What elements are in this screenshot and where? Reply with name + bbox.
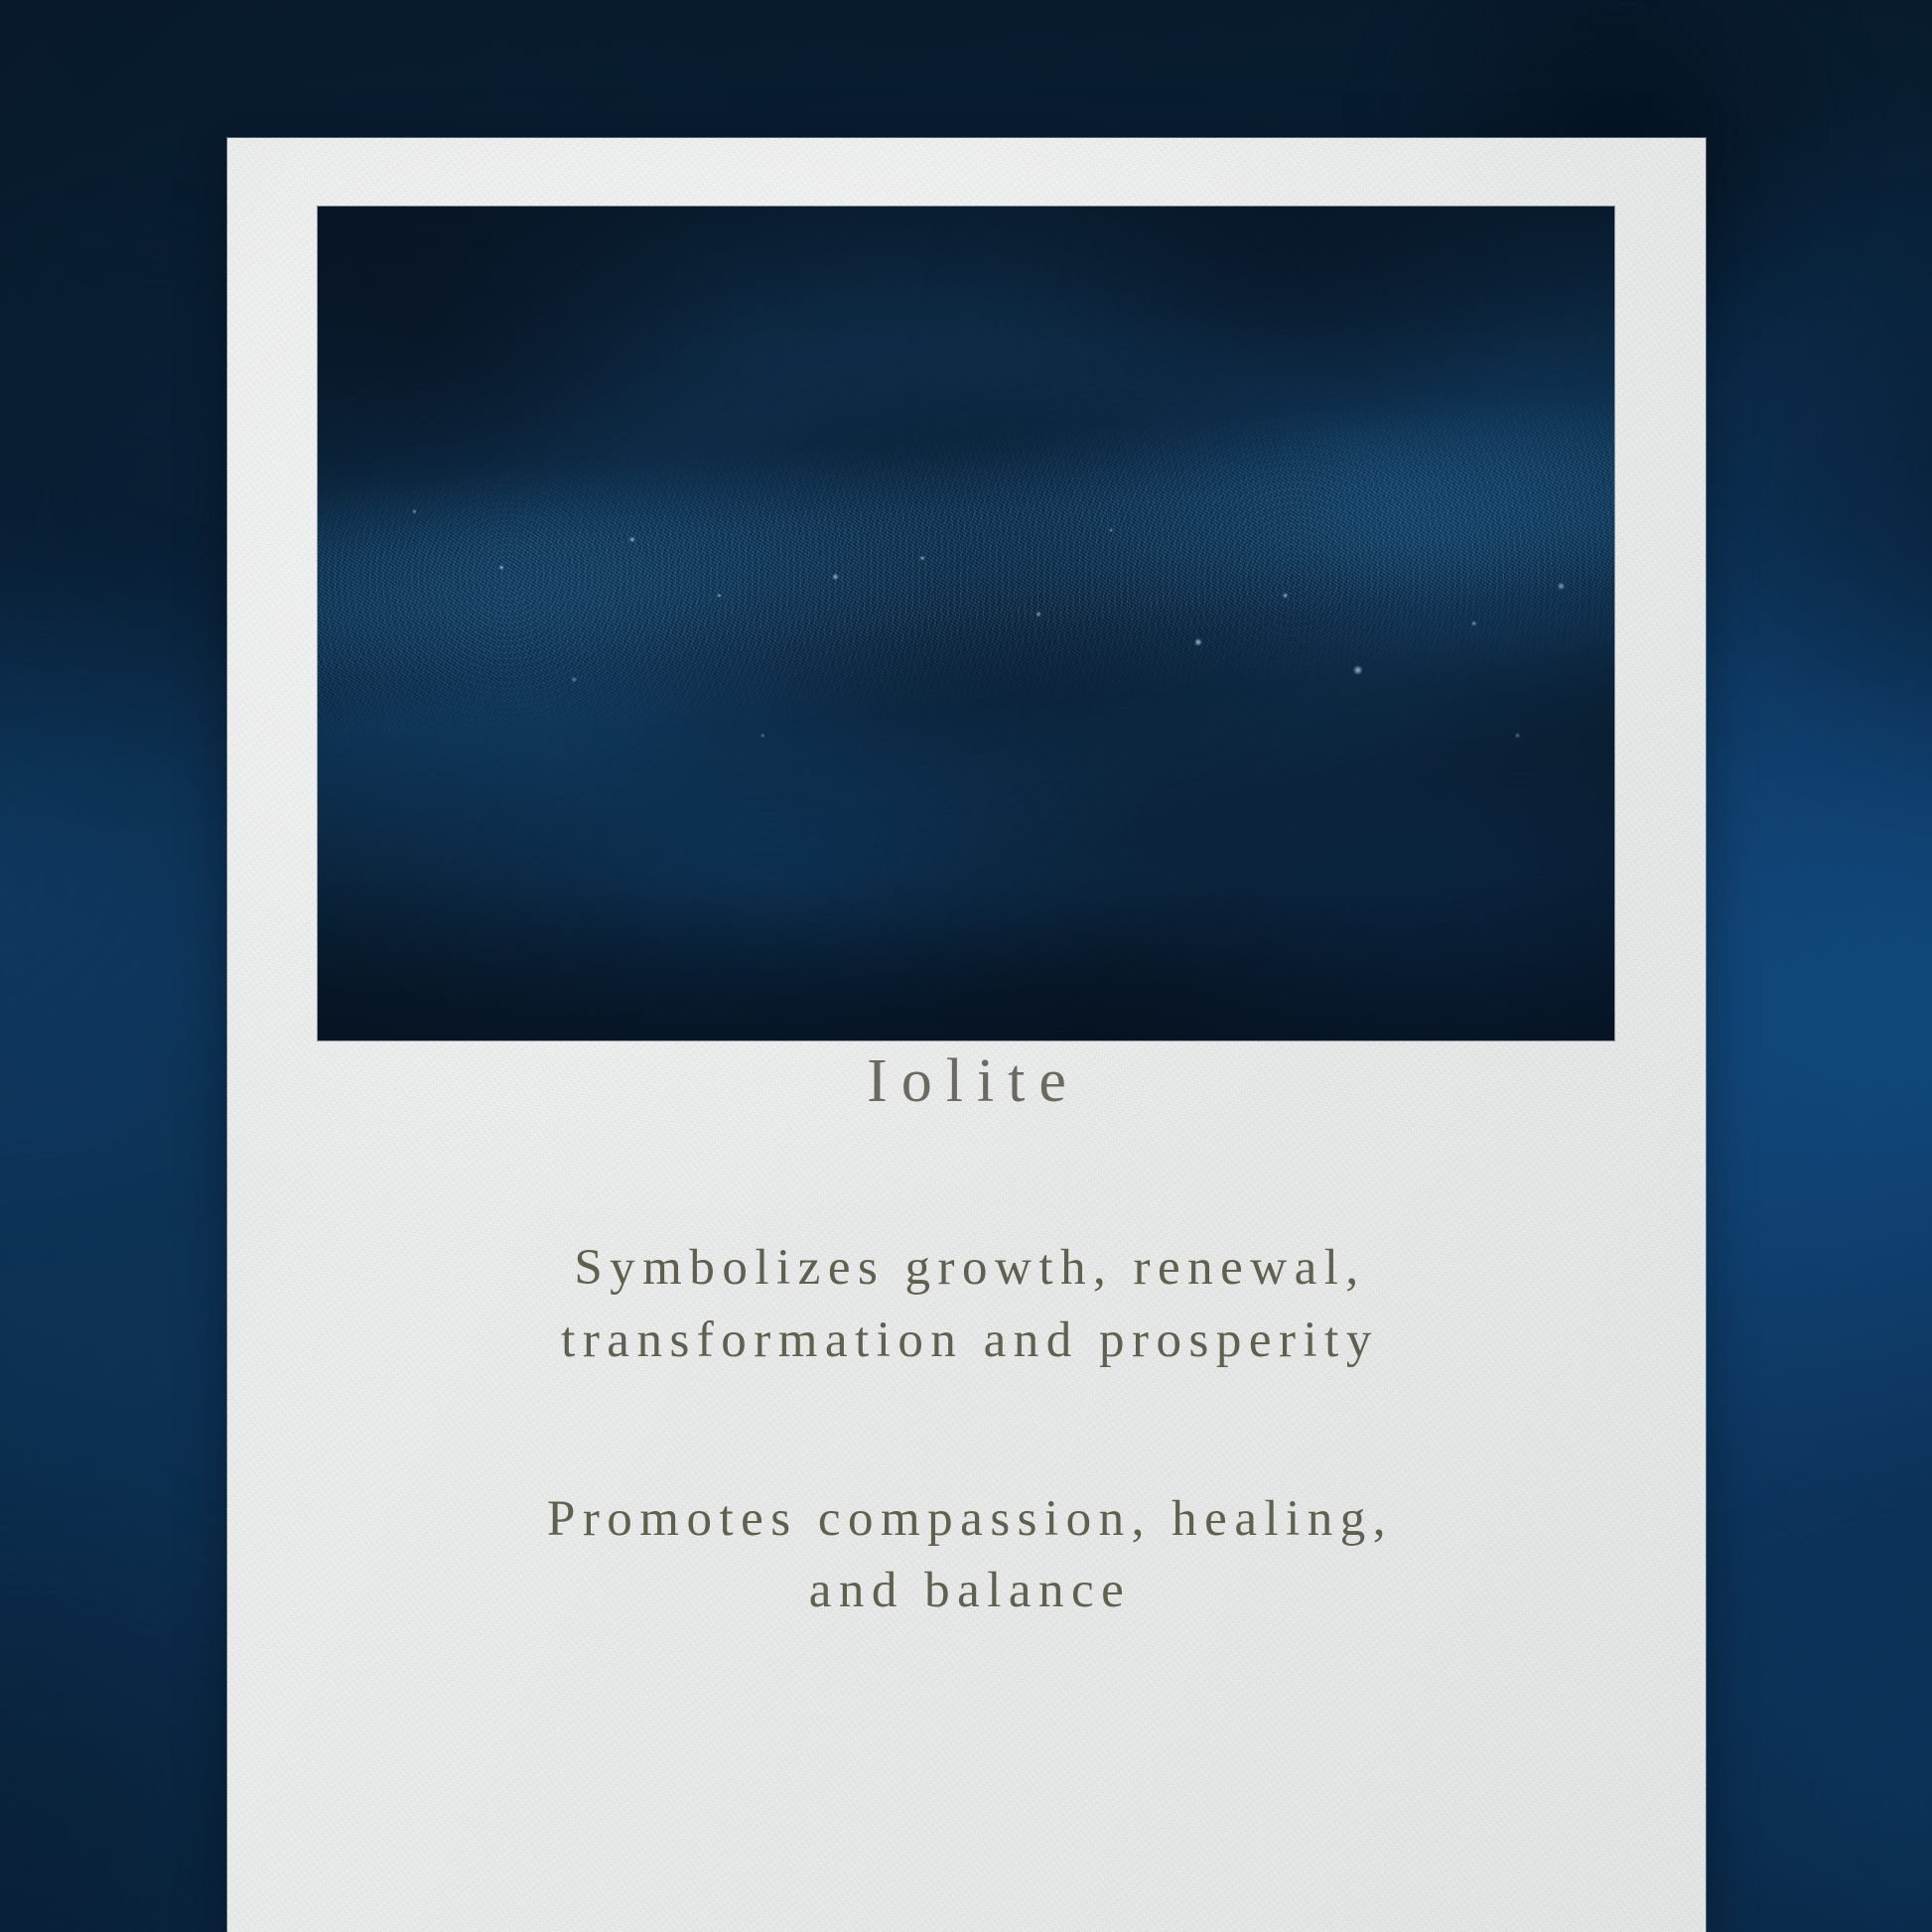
description-block-2: Promotes compassion, healing, and balanc… xyxy=(227,1483,1706,1627)
gemstone-info-card: Iolite Symbolizes growth, renewal, trans… xyxy=(227,138,1706,1932)
poster-stage: Iolite Symbolizes growth, renewal, trans… xyxy=(0,0,1932,1932)
caption-block: Iolite Symbolizes growth, renewal, trans… xyxy=(227,1047,1706,1627)
description-line: Promotes compassion, healing, xyxy=(547,1491,1393,1547)
gemstone-photo xyxy=(318,207,1614,1040)
gemstone-title: Iolite xyxy=(227,1047,1706,1115)
photo-vignette xyxy=(318,207,1614,1040)
description-line: Symbolizes growth, renewal, xyxy=(574,1240,1365,1296)
description-line: transformation and prosperity xyxy=(561,1312,1379,1368)
description-block-1: Symbolizes growth, renewal, transformati… xyxy=(227,1232,1706,1376)
description-line: and balance xyxy=(809,1563,1132,1618)
